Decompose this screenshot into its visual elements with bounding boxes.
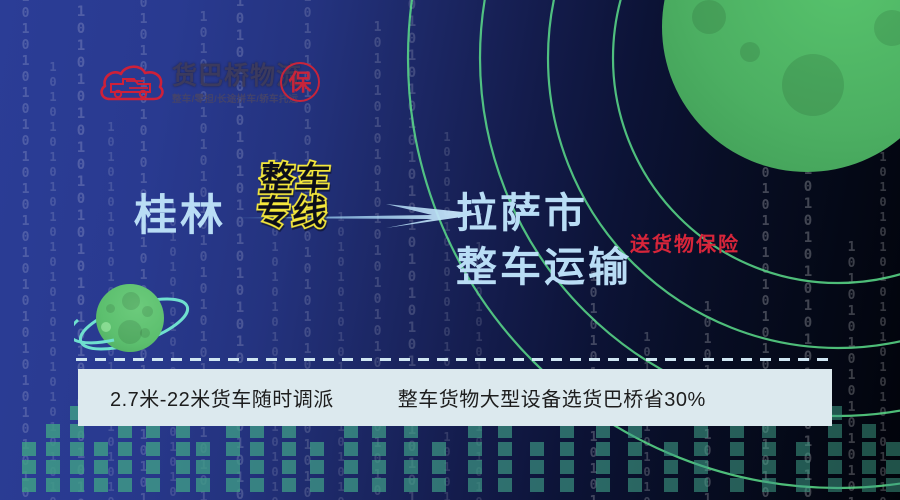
data-bar-cell [22,478,36,492]
data-bar-cell [372,460,386,474]
brand-logo: 货巴桥物流 整车/零担/长途拼车/轿车托运 [96,58,302,110]
data-bar-cell [344,424,358,438]
data-bar-cell [250,442,264,456]
data-bar-cell [250,460,264,474]
data-bar-cell [694,460,708,474]
data-bar-cell [862,460,876,474]
data-bar-cell [828,424,842,438]
data-bar-cell [282,424,296,438]
data-bar-cell [250,424,264,438]
data-bar-cell [664,478,678,492]
data-bar-cell [404,478,418,492]
data-bar-cell [886,460,900,474]
data-bar-cell [886,442,900,456]
data-bar-cell [628,478,642,492]
data-bar-cell [862,424,876,438]
data-bar-cell [310,442,324,456]
destination-block: 拉萨市 整车运输 [456,186,632,294]
data-bar-cell [886,478,900,492]
dashed-divider [76,358,832,361]
data-bar-cell [226,460,240,474]
data-bar-cell [46,460,60,474]
data-bar-cell [22,460,36,474]
banner-left-text: 2.7米-22米货车随时调派 [110,383,334,412]
data-bar-cell [862,442,876,456]
data-bar-cell [560,424,574,438]
data-bar-cell [828,478,842,492]
data-bar-cell [828,442,842,456]
data-bar-cell [796,460,810,474]
data-bar-cell [468,424,482,438]
data-bar-cell [146,442,160,456]
data-bar-cell [226,424,240,438]
data-bar-cell [730,460,744,474]
data-bar-cell [146,478,160,492]
destination-city-label: 拉萨市 [456,186,632,240]
data-bar-cell [282,478,296,492]
data-bar-cell [118,478,132,492]
data-bar-cell [498,460,512,474]
insurance-note-label: 送货物保险 [630,228,740,257]
data-bar-cell [828,460,842,474]
data-bar-cell [282,460,296,474]
banner-right-text: 整车货物大型设备选货巴桥省30% [398,383,706,412]
data-bar-cell [560,478,574,492]
data-bar-cell [344,442,358,456]
data-bar-cell [468,478,482,492]
data-bar-cell [46,424,60,438]
data-bar-cell [404,424,418,438]
data-bar-cell [694,424,708,438]
data-bar-cell [226,442,240,456]
data-bar-cell [372,442,386,456]
data-bar-cell [432,442,446,456]
data-bar-cell [432,460,446,474]
data-bar-cell [596,442,610,456]
data-bar-cell [176,442,190,456]
promo-poster: 1010101010101010101010101010101010101010… [0,0,900,500]
data-bar-cell [196,460,210,474]
data-bar-cell [560,442,574,456]
destination-service-label: 整车运输 [456,240,632,294]
data-bar-cell [730,424,744,438]
data-bar-cell [226,478,240,492]
data-bar-cell [118,460,132,474]
data-bar-cell [94,442,108,456]
data-bar-cell [498,442,512,456]
data-bar-cell [372,424,386,438]
data-bar-cell [250,478,264,492]
insurance-seal-icon: 保 [280,62,320,102]
data-bar-cell [762,424,776,438]
data-bar-cell [560,460,574,474]
data-bar-cell [176,460,190,474]
data-bar-cell [468,442,482,456]
data-bar-cell [796,478,810,492]
data-bar-cell [176,424,190,438]
data-bar-cell [94,460,108,474]
data-bar-cell [730,478,744,492]
data-bar-cell [694,442,708,456]
data-bar-cell [196,442,210,456]
data-bar-cell [730,442,744,456]
data-bar-cell [70,442,84,456]
data-bar-cell [146,424,160,438]
data-bar-cell [596,460,610,474]
data-bar-cell [628,424,642,438]
data-bar-cell [498,478,512,492]
data-bar-cell [146,460,160,474]
route-type-badge: 整车 专线 [254,164,333,231]
data-bar-cell [118,442,132,456]
data-bar-cell [310,478,324,492]
data-bar-cell [70,478,84,492]
data-bar-cell [282,442,296,456]
data-bar-cell [530,442,544,456]
data-bar-cell [118,424,132,438]
data-bar-cell [664,442,678,456]
data-bar-cell [310,460,324,474]
data-bar-cell [628,460,642,474]
data-bar-cell [22,442,36,456]
data-bar-cell [762,478,776,492]
planet-small-group [74,276,194,362]
route-badge-line2: 专线 [254,197,330,230]
data-bar-cell [664,460,678,474]
data-bar-cell [196,478,210,492]
data-bar-cell [432,478,446,492]
data-bar-cell [404,460,418,474]
bottom-info-banner: 2.7米-22米货车随时调派 整车货物大型设备选货巴桥省30% [78,369,832,426]
data-bar-cell [70,424,84,438]
data-bar-cell [796,442,810,456]
data-bar-cell [862,478,876,492]
data-bar-cell [530,478,544,492]
data-bar-cell [404,442,418,456]
data-bar-cell [628,442,642,456]
route-badge-line1: 整车 [258,164,334,197]
data-bar-cell [596,424,610,438]
data-bar-cell [46,478,60,492]
data-bar-cell [596,478,610,492]
data-bar-cell [94,478,108,492]
data-bar-cell [372,478,386,492]
data-bar-cell [176,478,190,492]
data-bar-cell [762,442,776,456]
data-bar-cell [762,460,776,474]
data-bar-cell [694,478,708,492]
data-bar-cell [46,442,60,456]
origin-city-label: 桂林 [134,195,226,238]
cloud-truck-icon [96,59,168,109]
data-bar-cell [344,478,358,492]
data-bar-cell [344,460,358,474]
data-bar-cell [530,460,544,474]
data-bar-cell [468,460,482,474]
data-bar-cell [70,460,84,474]
data-bar-cell [498,424,512,438]
